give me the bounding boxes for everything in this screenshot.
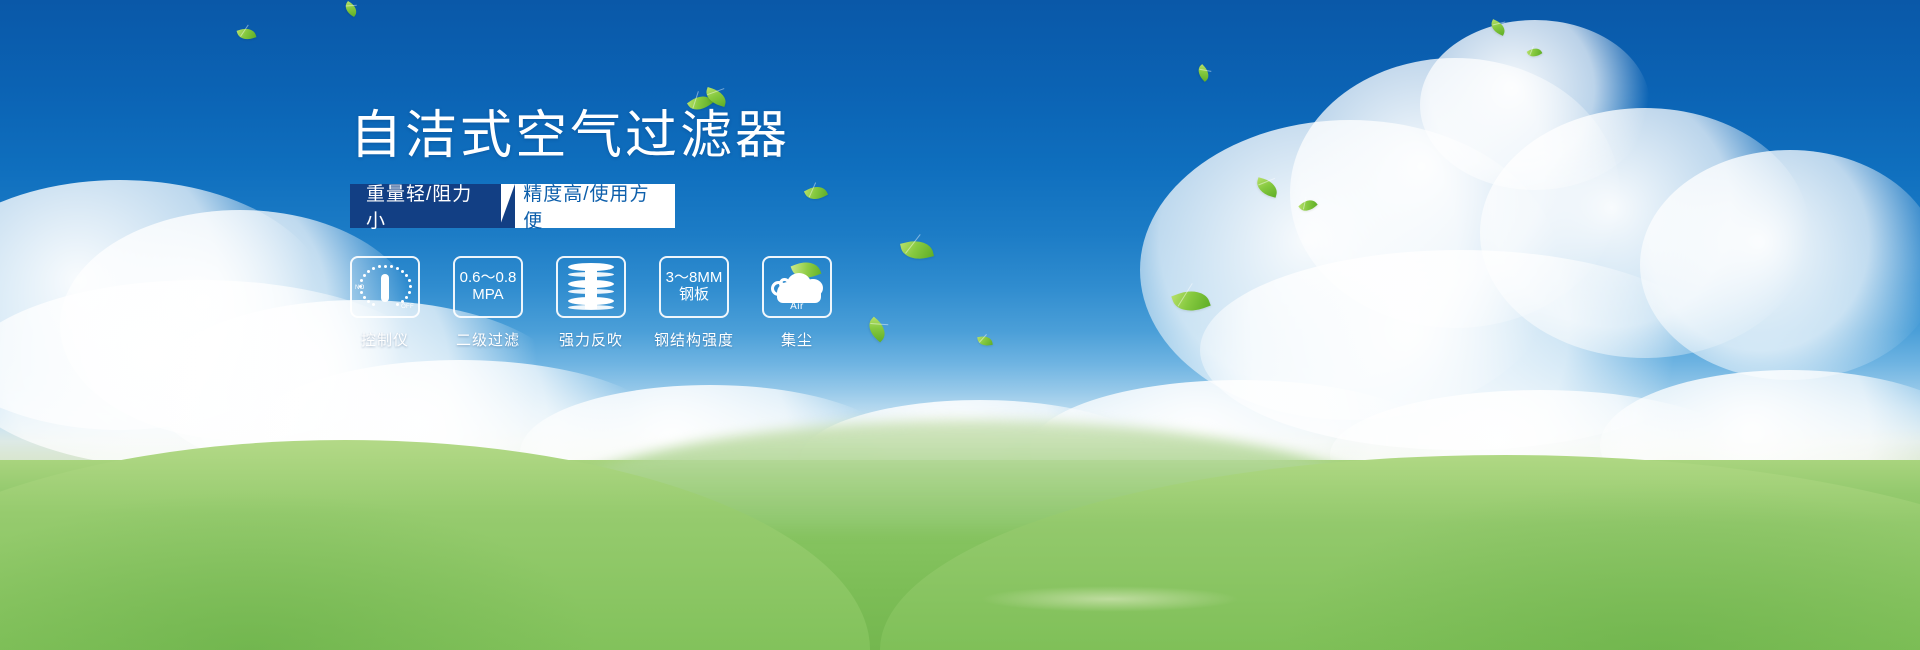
grass-shadow-left [0,490,600,650]
grass-highlight-patch [980,586,1240,612]
cloud-shape [0,180,330,430]
cloud-shape [1200,250,1720,450]
feature-box [556,256,626,318]
control-gauge-icon: NO OFF [358,262,412,312]
leaf-icon [1527,45,1543,59]
feature-box: 3〜8MM 钢板 [659,256,729,318]
feature-box: 0.6〜0.8 MPA [453,256,523,318]
pressure-text-icon: 0.6〜0.8 MPA [460,270,517,304]
feature-label: 钢结构强度 [654,329,734,350]
air-cloud-icon: Air [769,265,825,309]
leaf-icon [1298,196,1317,215]
cloud-shape [1290,58,1620,328]
badge-primary: 重量轻/阻力小 [350,184,501,228]
tagline-badges: 重量轻/阻力小 精度高/使用方便 [350,184,675,228]
gauge-needle [381,274,389,302]
feature-item-blowback: 强力反吹 [556,256,626,350]
feature-icon-row: NO OFF 控制仪 0.6〜0.8 MPA 二级过滤 [350,256,1050,350]
leaf-icon [237,26,257,43]
dust-swirl-icon [779,278,790,289]
steel-plate-text-icon: 3〜8MM 钢板 [666,270,723,304]
cloud-shape [1480,108,1810,358]
feature-item-dust: Air 集尘 [762,256,832,350]
leaf-icon [342,1,359,17]
feature-label: 二级过滤 [456,329,520,350]
leaf-icon [1488,19,1507,36]
gauge-label-no: NO [355,285,365,291]
badge-secondary: 精度高/使用方便 [501,184,675,228]
cloud-shape [1140,120,1560,420]
grass-field [0,460,1920,650]
title-leaf-decoration [685,88,729,118]
air-caption: Air [769,301,825,312]
feature-item-pressure: 0.6〜0.8 MPA 二级过滤 [453,256,523,350]
hero-banner: 自洁式空气过滤器 重量轻/阻力小 精度高/使用方便 [0,0,1920,650]
leaf-icon [1195,64,1212,82]
feature-item-steel: 3〜8MM 钢板 钢结构强度 [659,256,729,350]
feature-item-control: NO OFF 控制仪 [350,256,420,350]
gauge-label-off: OFF [401,304,414,310]
cloud-puff [803,279,823,297]
feature-box: NO OFF [350,256,420,318]
feature-label: 强力反吹 [559,329,623,350]
banner-content: 自洁式空气过滤器 重量轻/阻力小 精度高/使用方便 [350,110,1050,350]
feature-label: 控制仪 [361,329,409,350]
leaf-icon [1254,177,1279,197]
leaf-icon [1171,285,1210,317]
coil-blowback-icon [568,263,614,311]
cloud-shape [1420,20,1650,190]
feature-label: 集尘 [781,329,813,350]
cloud-shape [1640,150,1920,380]
feature-box: Air [762,256,832,318]
grass-shadow-right [1280,480,1920,650]
